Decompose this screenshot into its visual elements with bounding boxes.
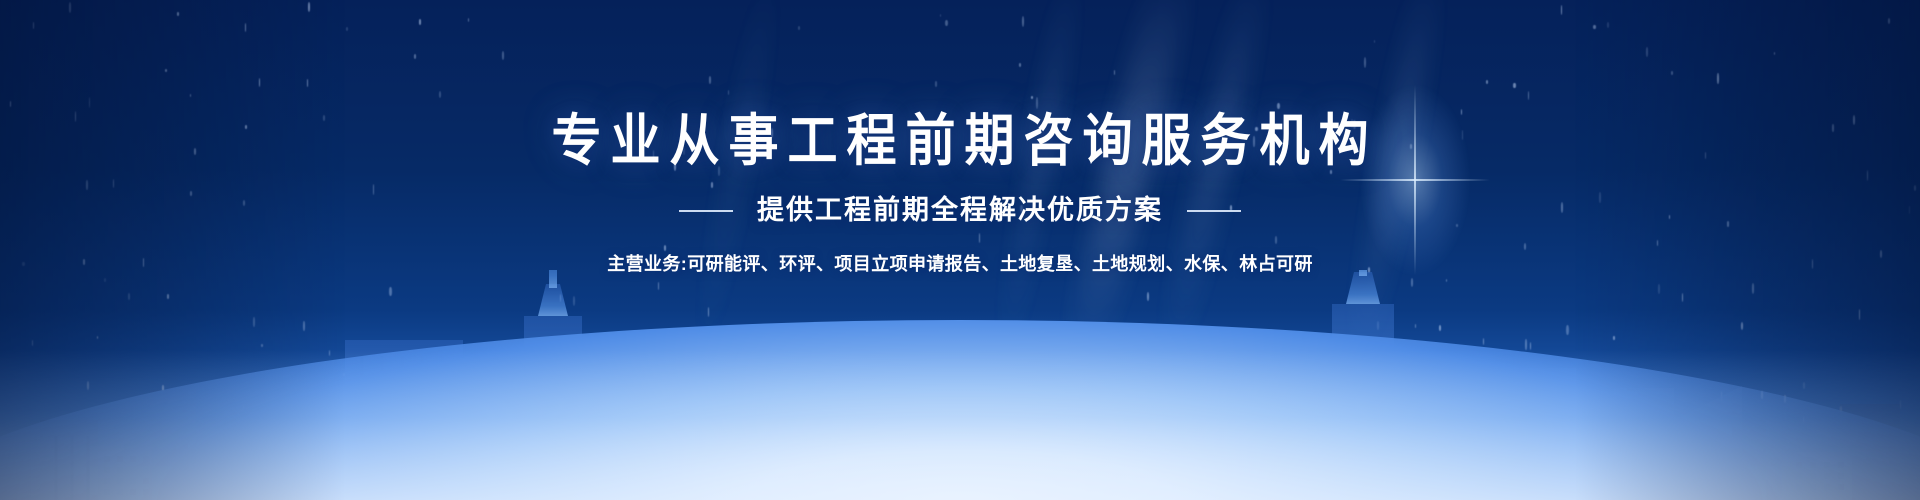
divider-dash-right	[1187, 210, 1241, 212]
banner-headline: 专业从事工程前期咨询服务机构	[543, 113, 1378, 169]
banner-services-line: 主营业务:可研能评、环评、项目立项申请报告、土地复垦、土地规划、水保、林占可研	[607, 255, 1313, 273]
hero-banner: 专业从事工程前期咨询服务机构 提供工程前期全程解决优质方案 主营业务:可研能评、…	[0, 0, 1920, 500]
banner-subtitle: 提供工程前期全程解决优质方案	[757, 197, 1163, 224]
divider-dash-left	[679, 210, 733, 212]
banner-subtitle-row: 提供工程前期全程解决优质方案	[679, 197, 1241, 224]
banner-copy: 专业从事工程前期咨询服务机构 提供工程前期全程解决优质方案 主营业务:可研能评、…	[0, 0, 1920, 500]
